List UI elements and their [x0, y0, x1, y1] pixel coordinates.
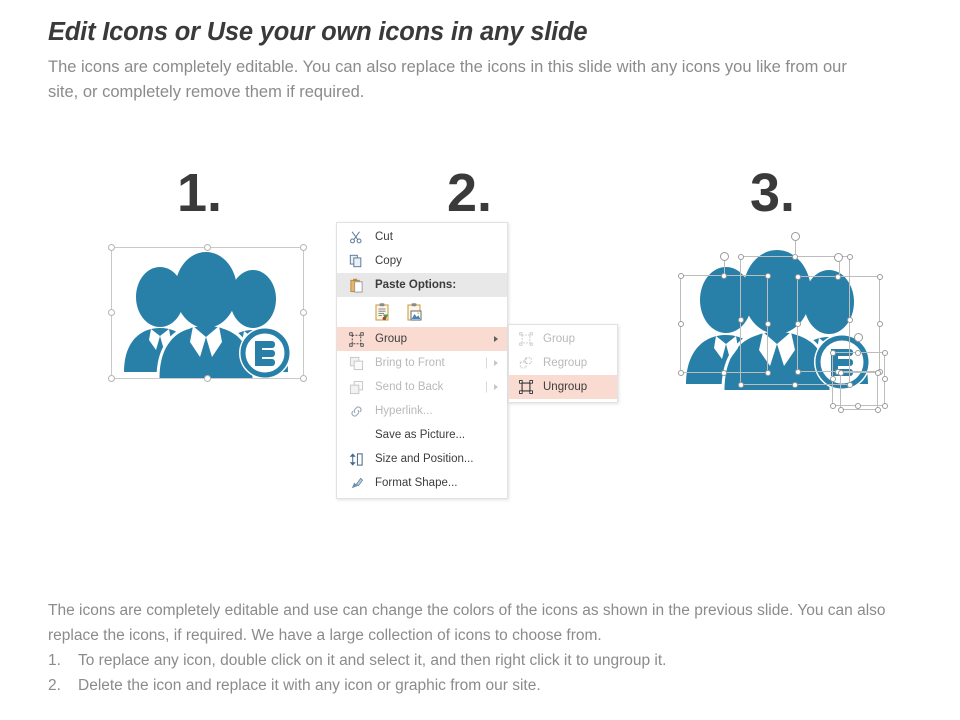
copy-icon: [346, 252, 366, 270]
list-item-text: To replace any icon, double click on it …: [78, 648, 666, 673]
paste-options-row[interactable]: [337, 297, 507, 327]
list-item-number: 1.: [48, 648, 78, 673]
resize-handle-sw[interactable]: [795, 369, 801, 375]
step-number-1: 1.: [177, 166, 222, 220]
resize-handle-e[interactable]: [877, 321, 883, 327]
resize-handle-nw[interactable]: [108, 244, 115, 251]
resize-handle-sw[interactable]: [838, 407, 844, 413]
menu-item-label: Send to Back: [375, 381, 443, 393]
menu-item-save-as-picture[interactable]: Save as Picture...: [337, 423, 507, 447]
resize-handle-se[interactable]: [882, 403, 888, 409]
footer-text-block: The icons are completely editable and us…: [48, 598, 928, 698]
resize-handle-se[interactable]: [875, 407, 881, 413]
rotate-handle[interactable]: [854, 333, 863, 342]
format-shape-icon: [346, 474, 366, 492]
resize-handle-n[interactable]: [204, 244, 211, 251]
menu-item-paste-options: Paste Options:: [337, 273, 507, 297]
rotate-stem: [839, 262, 840, 275]
resize-handle-sw[interactable]: [830, 403, 836, 409]
menu-item-copy[interactable]: Copy: [337, 249, 507, 273]
resize-handle-e[interactable]: [882, 376, 888, 382]
size-and-position-icon: [346, 450, 366, 468]
group-icon: [516, 330, 536, 348]
bring-to-front-icon: [346, 354, 366, 372]
paste-icon: [346, 276, 366, 294]
rotate-stem: [795, 241, 796, 255]
resize-handle-s[interactable]: [721, 370, 727, 376]
resize-handle-ne[interactable]: [875, 370, 881, 376]
menu-item-format-shape[interactable]: Format Shape...: [337, 471, 507, 495]
ungroup-icon: [516, 378, 536, 396]
scissors-icon: [346, 228, 366, 246]
hyperlink-icon: [346, 402, 366, 420]
menu-item-label: Size and Position...: [375, 453, 473, 465]
list-item-number: 2.: [48, 673, 78, 698]
chevron-right-icon: [494, 384, 498, 390]
list-item: 1. To replace any icon, double click on …: [48, 648, 928, 673]
resize-handle-s[interactable]: [204, 375, 211, 382]
resize-handle-sw[interactable]: [108, 375, 115, 382]
group-submenu[interactable]: Group Regroup: [508, 324, 618, 403]
menu-item-send-to-back[interactable]: Send to Back: [337, 375, 507, 399]
menu-separator-pipe: [486, 382, 487, 393]
resize-handle-n[interactable]: [855, 350, 861, 356]
page-title: Edit Icons or Use your own icons in any …: [48, 18, 587, 47]
rotate-handle[interactable]: [834, 253, 843, 262]
send-to-back-icon: [346, 378, 366, 396]
step-number-3: 3.: [750, 166, 795, 220]
menu-item-size-and-position[interactable]: Size and Position...: [337, 447, 507, 471]
submenu-item-regroup[interactable]: Regroup: [509, 351, 617, 375]
menu-item-label: Paste Options:: [375, 279, 456, 291]
menu-item-label: Hyperlink...: [375, 405, 433, 417]
resize-handle-s[interactable]: [792, 382, 798, 388]
resize-handle-e[interactable]: [300, 309, 307, 316]
menu-item-bring-to-front[interactable]: Bring to Front: [337, 351, 507, 375]
menu-item-cut[interactable]: Cut: [337, 225, 507, 249]
group-icon: [346, 330, 366, 348]
menu-separator-pipe: [486, 358, 487, 369]
menu-item-label: Save as Picture...: [375, 429, 465, 441]
menu-item-group[interactable]: Group: [337, 327, 507, 351]
menu-item-hyperlink[interactable]: Hyperlink...: [337, 399, 507, 423]
slide-canvas: Edit Icons or Use your own icons in any …: [0, 0, 960, 720]
resize-handle-ne[interactable]: [882, 350, 888, 356]
menu-item-label: Copy: [375, 255, 402, 267]
menu-item-label: Group: [375, 333, 407, 345]
submenu-item-group[interactable]: Group: [509, 327, 617, 351]
rotate-stem: [724, 261, 725, 274]
resize-handle-nw[interactable]: [678, 273, 684, 279]
paste-use-destination-theme-button[interactable]: [371, 301, 393, 323]
menu-item-label: Format Shape...: [375, 477, 457, 489]
sub-selection-badge-letter[interactable]: [840, 372, 878, 410]
resize-handle-w[interactable]: [738, 317, 744, 323]
chevron-right-icon: [494, 336, 498, 342]
resize-handle-nw[interactable]: [830, 350, 836, 356]
footer-list: 1. To replace any icon, double click on …: [48, 648, 928, 698]
rotate-handle[interactable]: [791, 232, 800, 241]
resize-handle-sw[interactable]: [738, 382, 744, 388]
submenu-item-ungroup[interactable]: Ungroup: [509, 375, 617, 399]
footer-paragraph: The icons are completely editable and us…: [48, 598, 928, 648]
menu-item-label: Bring to Front: [375, 357, 445, 369]
resize-handle-nw[interactable]: [838, 370, 844, 376]
resize-handle-nw[interactable]: [738, 254, 744, 260]
submenu-item-label: Group: [543, 333, 575, 345]
resize-handle-w[interactable]: [830, 376, 836, 382]
selection-frame-icon1[interactable]: [111, 247, 304, 379]
step-number-2: 2.: [447, 166, 492, 220]
resize-handle-w[interactable]: [678, 321, 684, 327]
rotate-handle[interactable]: [720, 252, 729, 261]
resize-handle-se[interactable]: [300, 375, 307, 382]
resize-handle-ne[interactable]: [300, 244, 307, 251]
chevron-right-icon: [494, 360, 498, 366]
resize-handle-w[interactable]: [108, 309, 115, 316]
resize-handle-nw[interactable]: [795, 274, 801, 280]
resize-handle-ne[interactable]: [847, 254, 853, 260]
regroup-icon: [516, 354, 536, 372]
submenu-item-label: Regroup: [543, 357, 587, 369]
context-menu[interactable]: Cut Copy Paste Options:: [336, 222, 508, 499]
list-item-text: Delete the icon and replace it with any …: [78, 673, 541, 698]
submenu-item-label: Ungroup: [543, 381, 587, 393]
list-item: 2. Delete the icon and replace it with a…: [48, 673, 928, 698]
paste-picture-button[interactable]: [403, 301, 425, 323]
resize-handle-w[interactable]: [795, 321, 801, 327]
resize-handle-sw[interactable]: [678, 370, 684, 376]
menu-item-label: Cut: [375, 231, 393, 243]
page-subtitle: The icons are completely editable. You c…: [48, 55, 878, 105]
resize-handle-ne[interactable]: [877, 274, 883, 280]
